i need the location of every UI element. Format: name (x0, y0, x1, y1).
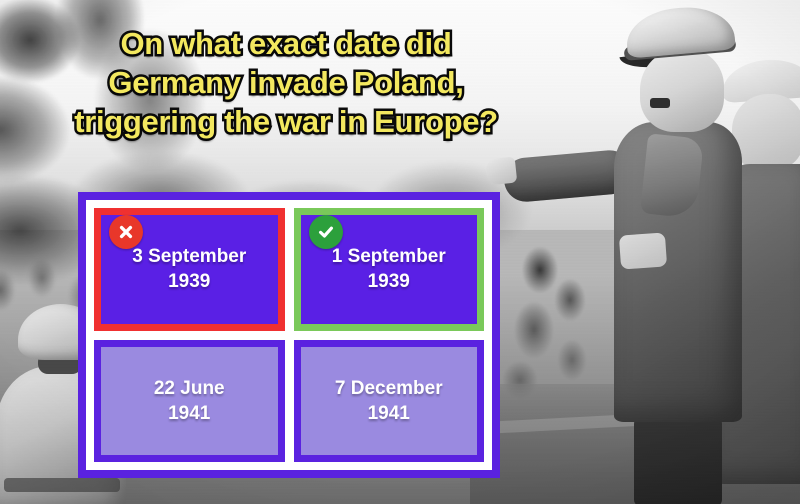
option-label-line1: 7 December (335, 376, 443, 401)
option-label-line1: 1 September (332, 244, 446, 269)
question-title: On what exact date did Germany invade Po… (8, 24, 564, 141)
quiz-slide: On what exact date did Germany invade Po… (0, 0, 800, 504)
option-label-line2: 1939 (168, 269, 210, 294)
option-label-line2: 1939 (368, 269, 410, 294)
cross-circle-icon (109, 215, 143, 249)
option-label-line1: 3 September (132, 244, 246, 269)
check-circle-icon (309, 215, 343, 249)
option-label-line1: 22 June (154, 376, 225, 401)
option-label-line2: 1941 (168, 401, 210, 426)
option-card-2[interactable]: 1 September 1939 (294, 208, 485, 331)
option-card-4[interactable]: 7 December 1941 (294, 340, 485, 463)
option-card-1[interactable]: 3 September 1939 (94, 208, 285, 331)
option-label-line2: 1941 (368, 401, 410, 426)
answer-options-panel: 3 September 1939 1 September 1939 22 Jun… (78, 192, 500, 478)
option-card-3[interactable]: 22 June 1941 (94, 340, 285, 463)
